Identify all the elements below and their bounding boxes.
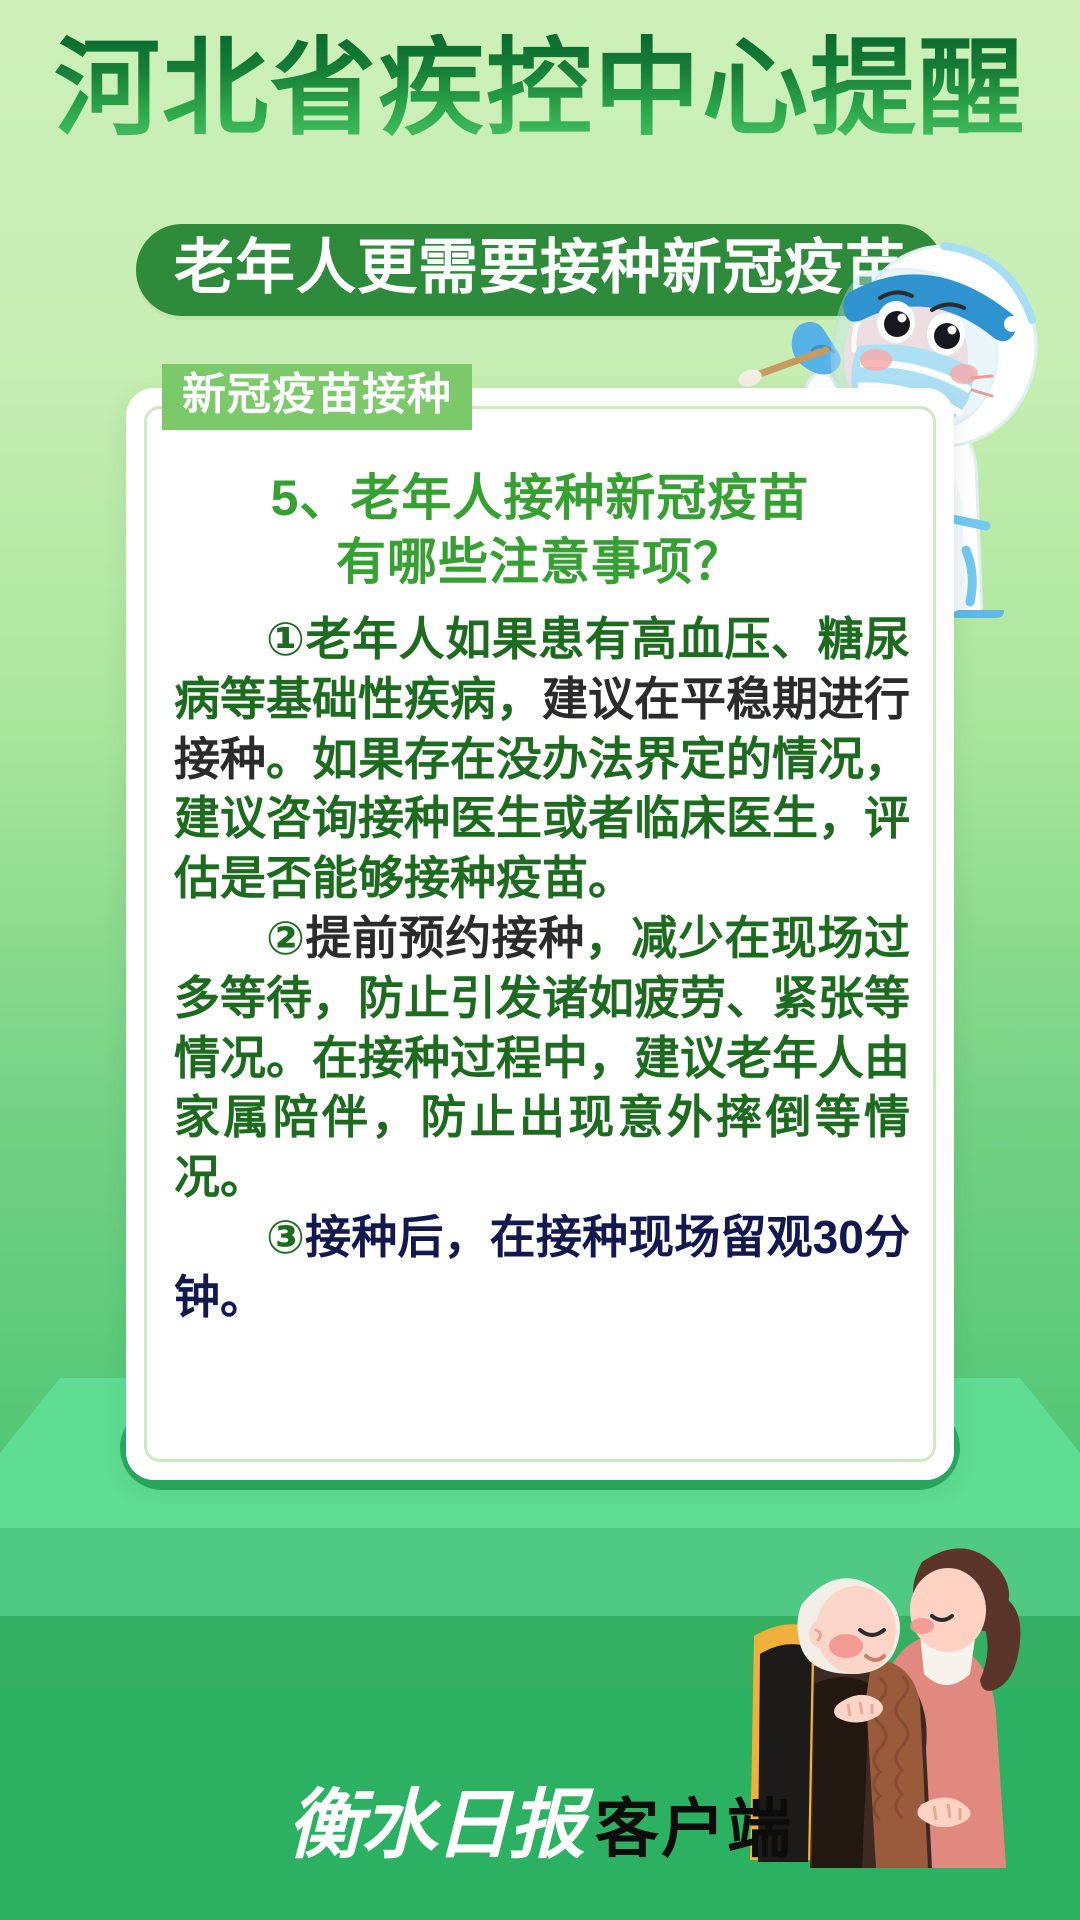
question-line-1: 5、老年人接种新冠疫苗 — [176, 466, 904, 530]
paragraph-marker: ① — [266, 613, 306, 665]
answer-body: ①老年人如果患有高血压、糖尿病等基础性疾病，建议在平稳期进行接种。如果存在没办法… — [174, 610, 910, 1328]
answer-paragraph: ②提前预约接种，减少在现场过多等待，防止引发诸如疲劳、紧张等情况。在接种过程中，… — [174, 909, 910, 1208]
footer-logo: 衡水日报客户端 — [0, 1788, 1080, 1864]
question-line-2: 有哪些注意事项？ — [176, 530, 904, 594]
paragraph-marker: ③ — [266, 1211, 305, 1263]
question-title: 5、老年人接种新冠疫苗 有哪些注意事项？ — [176, 466, 904, 594]
answer-text-segment: 。如果存在没办法界定的情况，建议咨询接种医生或者临床医生，评估是否能够接种疫苗。 — [174, 733, 910, 905]
answer-text-segment: 提前预约接种 — [306, 912, 585, 964]
status-badge: 新冠疫苗接种 — [162, 364, 472, 430]
page-title: 河北省疾控中心提醒 — [0, 34, 1080, 145]
answer-paragraph: ①老年人如果患有高血压、糖尿病等基础性疾病，建议在平稳期进行接种。如果存在没办法… — [174, 610, 910, 909]
newspaper-logo-text: 衡水日报 — [287, 1784, 583, 1868]
poster-root: 河北省疾控中心提醒 老年人更需要接种新冠疫苗 — [0, 0, 1080, 1920]
answer-paragraph: ③接种后，在接种现场留观30分钟。 — [174, 1208, 910, 1328]
paragraph-marker: ② — [266, 912, 306, 964]
content-card: 新冠疫苗接种 5、老年人接种新冠疫苗 有哪些注意事项？ ①老年人如果患有高血压、… — [126, 388, 954, 1480]
client-label: 客户端 — [595, 1793, 793, 1865]
